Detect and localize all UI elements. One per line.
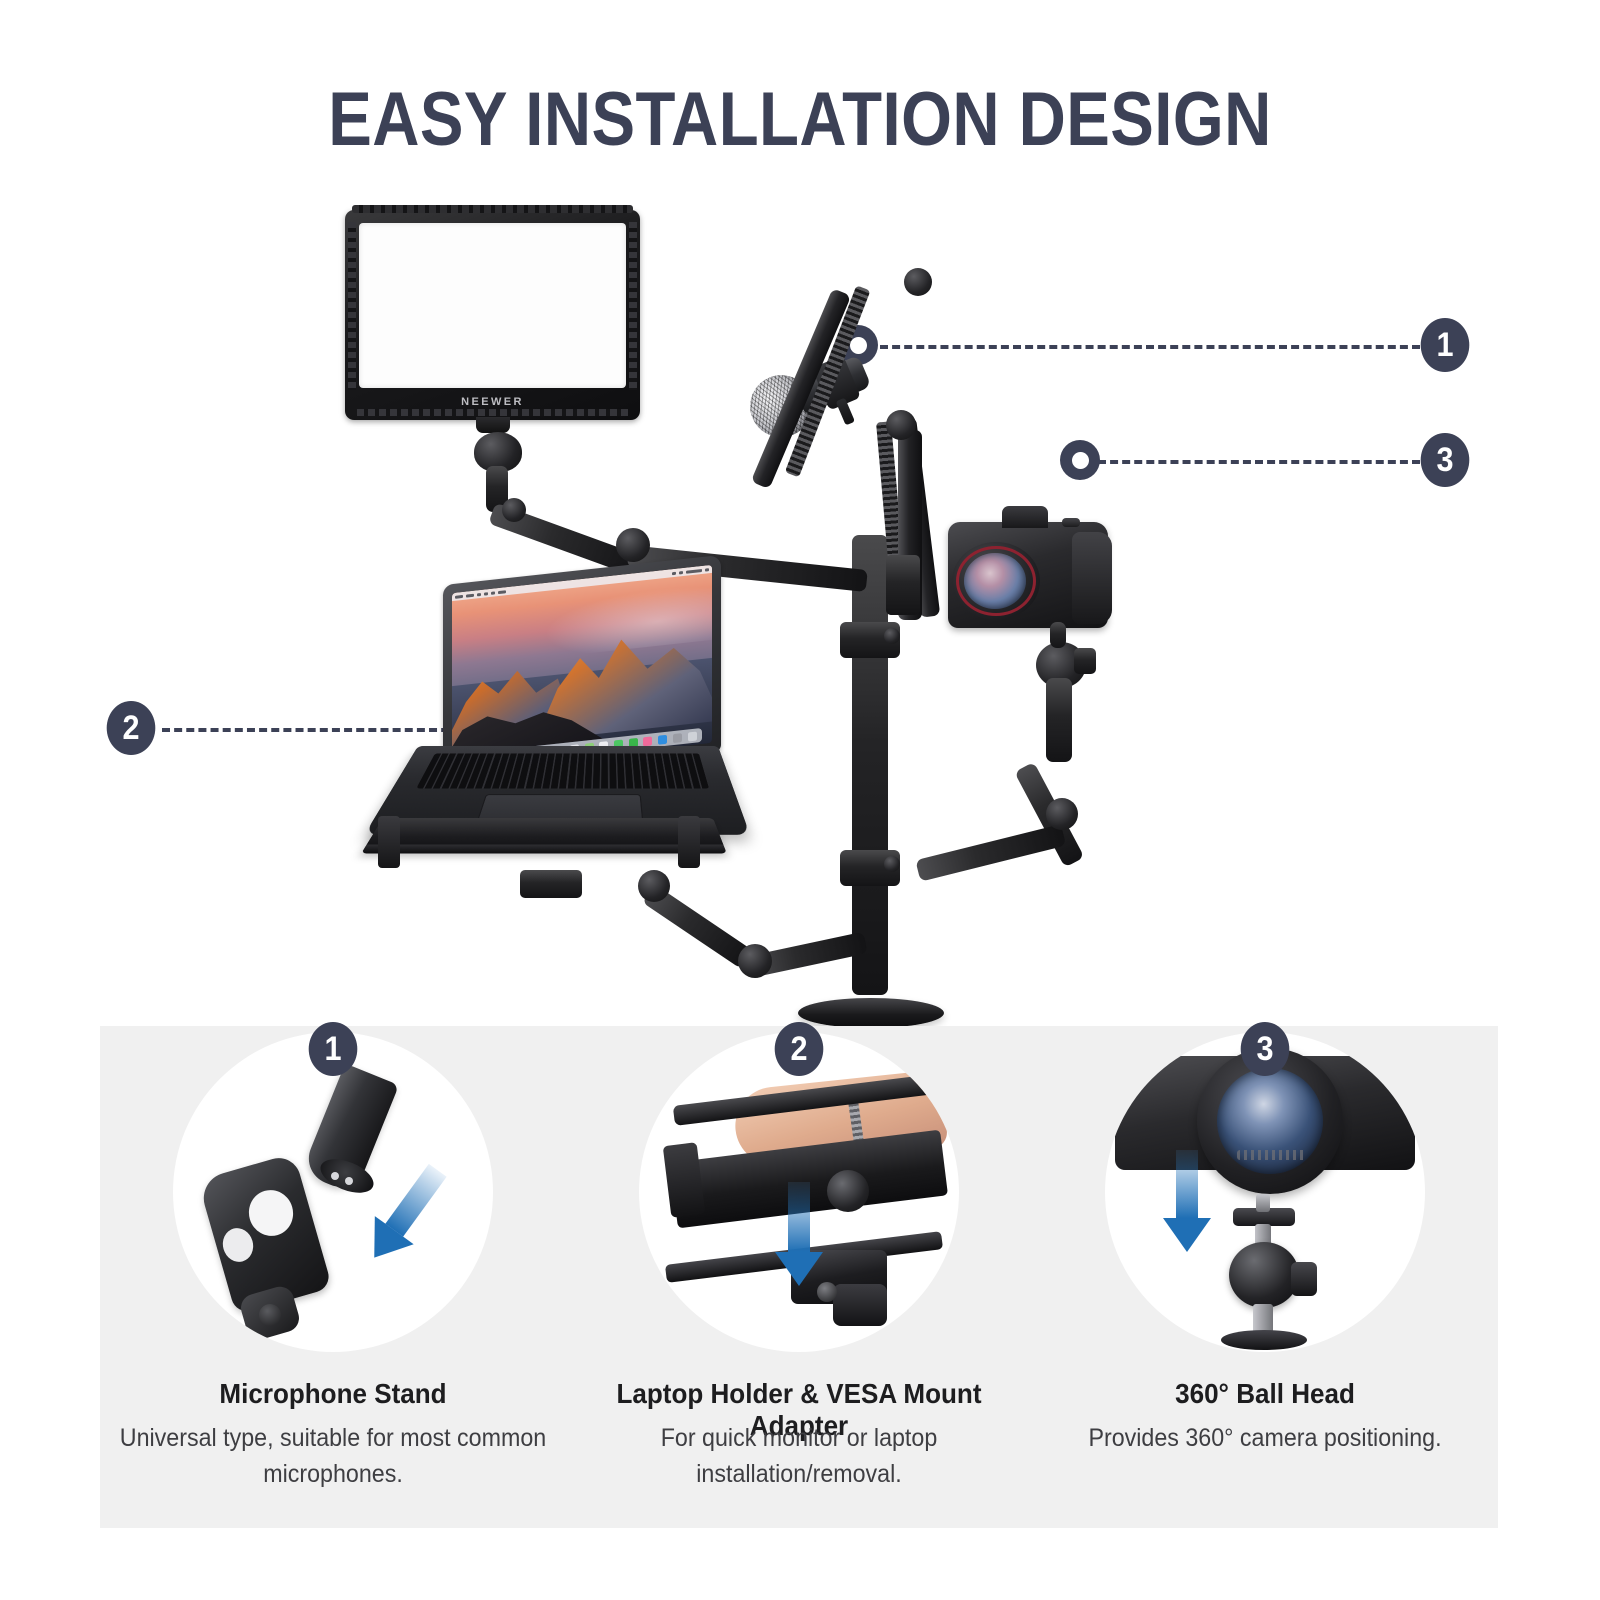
hero-product-scene: 1 2 3 NEEWER [0, 170, 1600, 1030]
page-title: EASY INSTALLATION DESIGN [112, 82, 1488, 158]
detail-title-3: 360° Ball Head [1048, 1378, 1481, 1410]
camera-grip [1072, 532, 1112, 624]
ball-head-icon [1229, 1242, 1299, 1308]
boom-arm-pivot-mid[interactable] [886, 410, 916, 440]
lens-filter-marking [1237, 1150, 1307, 1160]
camera-pentaprism [1002, 506, 1048, 528]
led-bezel-right [629, 222, 637, 390]
callout-badge-2[interactable]: 2 [107, 701, 156, 755]
boom-arm-pivot-top[interactable] [904, 268, 932, 296]
detail-badge-2[interactable]: 2 [775, 1022, 824, 1076]
insert-arrow-3 [1163, 1150, 1211, 1254]
detail-title-1: Microphone Stand [116, 1378, 549, 1410]
infographic-page: EASY INSTALLATION DESIGN 1 2 3 NEEWER [0, 0, 1600, 1600]
detail-image-circle-2 [639, 1032, 959, 1352]
dock-icon-appstore[interactable] [658, 734, 667, 744]
led-brand-label: NEEWER [345, 396, 640, 408]
detail-badge-3[interactable]: 3 [1241, 1022, 1290, 1076]
camera-shutter-button[interactable] [1062, 518, 1080, 527]
column-knob-lower[interactable] [884, 856, 900, 872]
boom-arm-mount-clamp [886, 555, 920, 615]
dock-icon-itunes[interactable] [643, 736, 652, 746]
tray-arm-base-joint[interactable] [738, 944, 772, 978]
xlr-pin-2 [345, 1177, 353, 1185]
led-arm-knob[interactable] [502, 498, 526, 522]
led-diffuser-screen [359, 223, 626, 388]
dock-icon-trash[interactable] [688, 731, 697, 741]
detail-cell-3: 3 360° Ball Head Provides 360° camera po… [1032, 1026, 1498, 1528]
insert-arrow-2 [775, 1182, 823, 1286]
center-column-pole [852, 535, 888, 995]
detail-cell-1: 1 Microphone Stand Universal type, suita… [100, 1026, 566, 1528]
ball-head-lock-lever[interactable] [1291, 1262, 1317, 1296]
column-base-plate [798, 998, 944, 1028]
detail-callout-panel: 1 Microphone Stand Universal type, suita… [100, 1026, 1498, 1528]
status-search-icon [705, 568, 709, 571]
menu-item-window [498, 590, 506, 594]
xlr-pin-1 [331, 1172, 339, 1180]
menu-item-view [491, 591, 495, 594]
detail-cell-2: 2 Laptop Holder & VESA Mount Adapter For… [566, 1026, 1032, 1528]
led-arm-elbow-joint[interactable] [616, 528, 650, 562]
camera-post [1046, 678, 1072, 762]
status-wifi-icon [672, 571, 676, 574]
vesa-adapter-collar [833, 1284, 887, 1326]
laptop-tray-clip-left[interactable] [378, 816, 400, 868]
detail-image-circle-3 [1105, 1032, 1425, 1352]
callout-line-3 [1098, 460, 1420, 464]
led-bezel-left [348, 222, 356, 390]
laptop-tray-side-clip[interactable] [663, 1142, 706, 1218]
camera-lens-glass [964, 553, 1026, 609]
status-clock [686, 568, 702, 573]
callout-anchor-3 [1060, 440, 1100, 480]
camera-arm-segment-2 [915, 824, 1066, 882]
status-battery-icon [679, 571, 683, 574]
led-bezel-bottom [357, 409, 628, 416]
menu-item-finder [466, 593, 474, 597]
vesa-plate-knob[interactable] [827, 1170, 869, 1212]
dock-icon-settings[interactable] [673, 733, 682, 743]
laptop-tray-front-lip [361, 845, 727, 854]
callout-badge-1[interactable]: 1 [1421, 318, 1470, 372]
vesa-adapter-block [520, 870, 582, 898]
camera-ball-stem [1050, 622, 1066, 648]
led-mount-foot [476, 417, 510, 433]
detail-image-circle-1 [173, 1032, 493, 1352]
laptop-holder-tray [361, 818, 727, 853]
laptop-keyboard[interactable] [416, 753, 709, 788]
detail-description-3: Provides 360° camera positioning. [1048, 1420, 1481, 1456]
detail-description-2: For quick monitor or laptop installation… [582, 1420, 1015, 1492]
tray-arm-elbow-joint[interactable] [638, 870, 670, 902]
callout-line-1 [880, 345, 1420, 349]
menu-item-apple [455, 594, 463, 598]
menu-item-file [477, 592, 481, 595]
led-panel-light: NEEWER [345, 210, 640, 420]
ball-head-base [1221, 1330, 1307, 1350]
menu-bar-right-items [672, 568, 709, 575]
camera-ball-lock-knob[interactable] [1074, 648, 1096, 674]
laptop-tray-clip-right[interactable] [678, 816, 700, 868]
menu-item-edit [484, 592, 488, 595]
detail-badge-1[interactable]: 1 [309, 1022, 358, 1076]
clip-thumbscrew-icon[interactable] [259, 1304, 281, 1326]
callout-badge-3[interactable]: 3 [1421, 433, 1470, 487]
camera-arm-elbow-joint[interactable] [1046, 798, 1078, 830]
column-knob-upper[interactable] [884, 628, 900, 644]
ball-head-screw[interactable] [1256, 1194, 1270, 1212]
detail-description-1: Universal type, suitable for most common… [116, 1420, 549, 1492]
laptop-screen [452, 565, 712, 771]
